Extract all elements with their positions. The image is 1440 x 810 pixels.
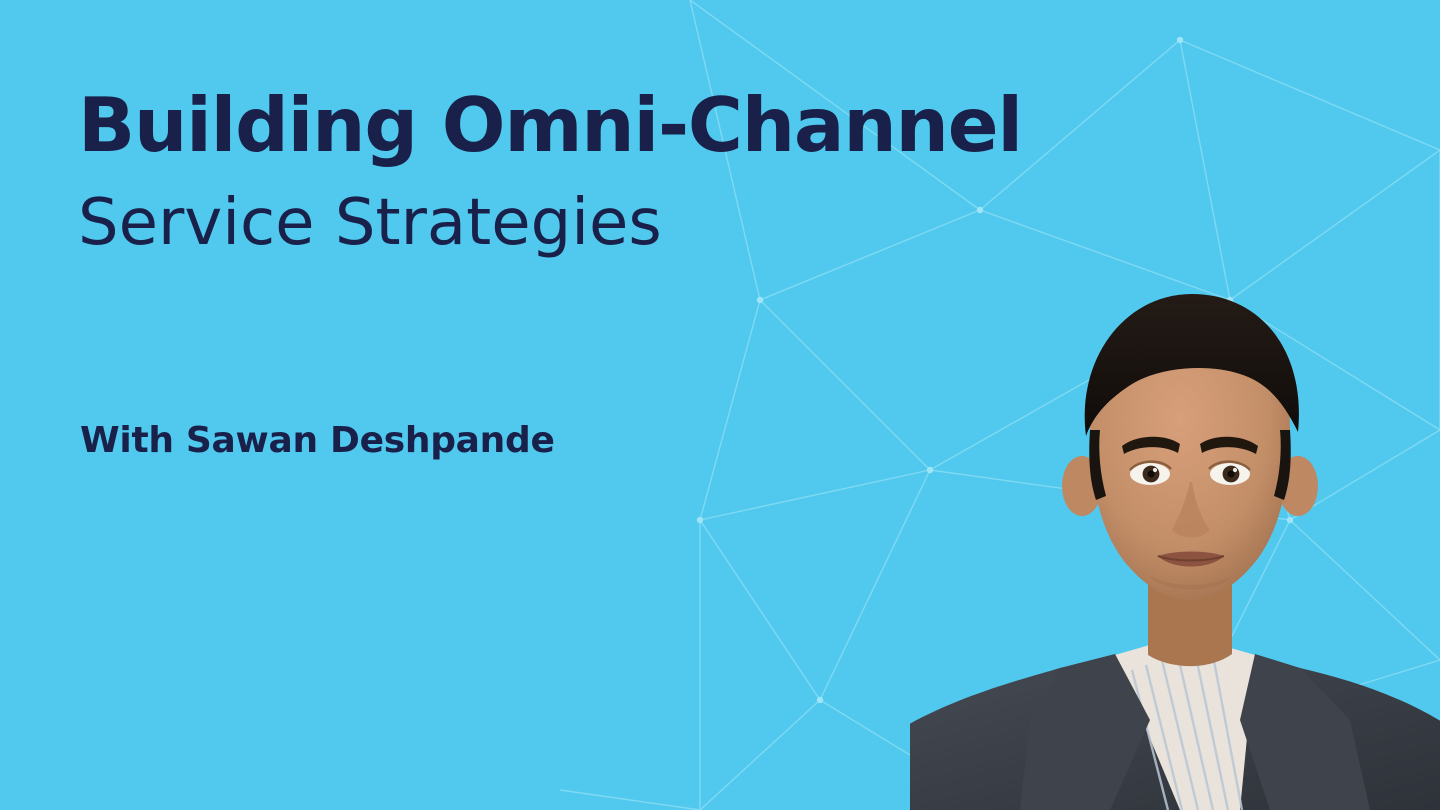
title-slide: Building Omni-Channel Service Strategies… bbox=[0, 0, 1440, 810]
slide-title-line-2: Service Strategies bbox=[78, 191, 1398, 255]
title-text-block: Building Omni-Channel Service Strategies bbox=[78, 88, 1398, 255]
presenter-credit: With Sawan Deshpande bbox=[80, 420, 555, 461]
speaker-headshot bbox=[910, 250, 1440, 810]
slide-title-line-1: Building Omni-Channel bbox=[78, 88, 1398, 163]
